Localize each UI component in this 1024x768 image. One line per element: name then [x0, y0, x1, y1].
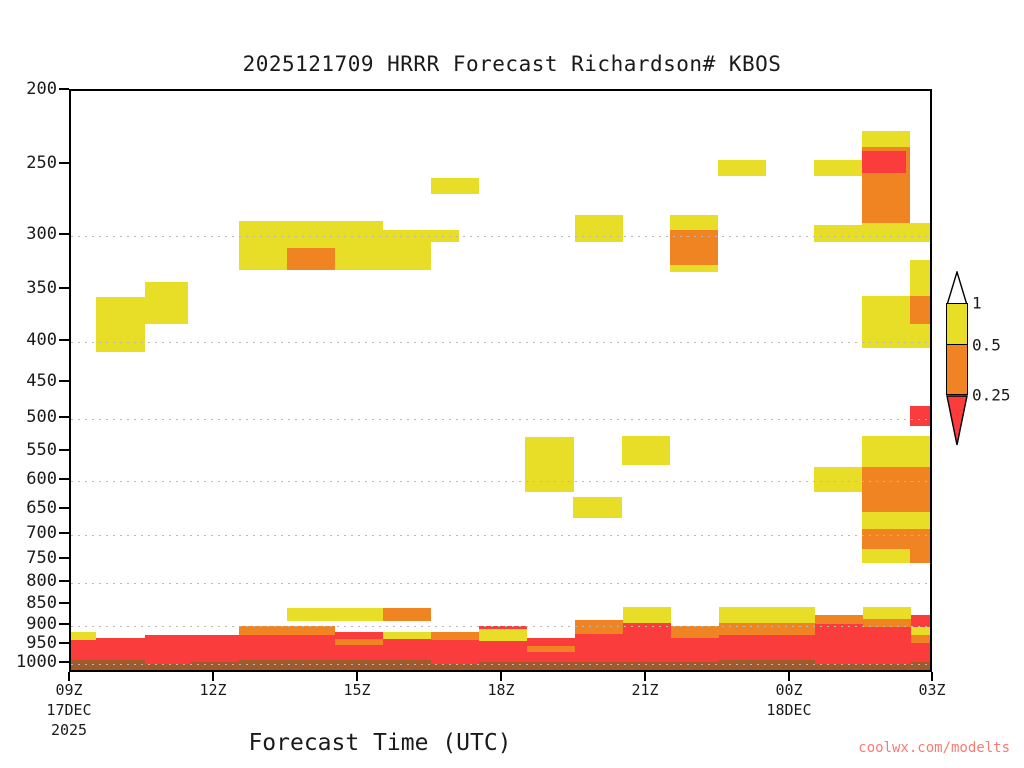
heatmap-cell [814, 467, 862, 492]
y-axis-tick-label: 600 [26, 469, 57, 489]
y-axis-tick [59, 380, 69, 382]
y-axis-tick [59, 532, 69, 534]
y-axis-tick [59, 449, 69, 451]
heatmap-cell [71, 632, 96, 640]
x-axis-tick-label: 18Z [487, 681, 514, 699]
plot-area [69, 89, 932, 672]
y-axis-tick [59, 233, 69, 235]
heatmap-cell [96, 297, 145, 352]
y-axis-tick-label: 250 [26, 153, 57, 173]
heatmap-cell [239, 626, 287, 635]
heatmap-cell [719, 607, 767, 623]
x-axis-tick-label: 21Z [631, 681, 658, 699]
heatmap-cell [814, 225, 862, 242]
y-axis-tick-label: 750 [26, 548, 57, 568]
heatmap-cell [479, 629, 527, 641]
heatmap-cell [862, 467, 932, 512]
x-axis-tick-label: 12Z [199, 681, 226, 699]
heatmap-cell [573, 497, 622, 518]
x-axis-tick [788, 672, 790, 681]
heatmap-cell [479, 662, 719, 672]
y-axis-tick-label: 950 [26, 633, 57, 653]
colorbar-over-arrow-outline [946, 271, 968, 307]
x-axis-tick [356, 672, 358, 681]
heatmap-cell [862, 529, 910, 549]
y-axis-tick [59, 416, 69, 418]
heatmap-cell [287, 626, 335, 635]
heatmap-cell [623, 607, 671, 623]
heatmap-cell [431, 230, 459, 242]
colorbar-under-arrow [946, 395, 968, 447]
heatmap-cell [145, 282, 188, 324]
heatmap-cell [863, 619, 911, 627]
x-axis-title: Forecast Time (UTC) [0, 730, 760, 756]
heatmap-cell [910, 529, 932, 563]
x-axis-tick [212, 672, 214, 681]
x-axis-tick-label: 00Z18DEC [766, 681, 811, 719]
x-axis-tick-label: 15Z [343, 681, 370, 699]
heatmap-cell [145, 664, 191, 672]
heatmap-cells [71, 91, 930, 670]
y-axis-tick-label: 900 [26, 614, 57, 634]
heatmap-cell [911, 662, 932, 672]
heatmap-cell [525, 437, 574, 492]
x-axis-tick [644, 672, 646, 681]
y-axis-tick-label: 850 [26, 593, 57, 613]
colorbar-segment-yellow [946, 303, 968, 345]
heatmap-cell [862, 223, 932, 242]
heatmap-cell [287, 608, 383, 621]
heatmap-cell [910, 260, 932, 296]
heatmap-cell [671, 626, 719, 638]
y-axis-tick [59, 623, 69, 625]
heatmap-cell [622, 436, 670, 465]
colorbar-tick-label: 0.5 [972, 336, 1001, 355]
heatmap-cell [335, 230, 431, 242]
colorbar-tick-label: 0.25 [972, 386, 1011, 405]
heatmap-cell [815, 615, 863, 624]
page-title: 2025121709 HRRR Forecast Richardson# KBO… [0, 52, 1024, 76]
heatmap-cell [335, 221, 383, 270]
heatmap-cell [71, 660, 145, 672]
x-axis-tick [931, 672, 933, 681]
heatmap-cell [431, 664, 479, 672]
y-axis-tick [59, 287, 69, 289]
heatmap-cell [191, 662, 239, 672]
y-axis-tick [59, 642, 69, 644]
heatmap-cell [431, 178, 479, 194]
y-axis-tick [59, 88, 69, 90]
x-axis-tick-label: 03Z [918, 681, 945, 699]
y-axis-tick [59, 162, 69, 164]
y-axis-tick-label: 1000 [16, 652, 57, 672]
heatmap-cell [718, 160, 766, 176]
y-axis-tick [59, 507, 69, 509]
colorbar-legend: 10.50.25 [946, 303, 968, 483]
y-axis-tick-label: 400 [26, 330, 57, 350]
y-axis-tick-label: 550 [26, 440, 57, 460]
y-axis: 2002503003504004505005506006507007508008… [0, 89, 69, 672]
y-axis-tick-label: 800 [26, 571, 57, 591]
y-axis-tick [59, 478, 69, 480]
heatmap-cell [862, 324, 910, 348]
heatmap-cell [910, 406, 932, 426]
chart-canvas: 2025121709 HRRR Forecast Richardson# KBO… [0, 0, 1024, 768]
heatmap-cell [335, 639, 383, 645]
x-axis-tick [500, 672, 502, 681]
heatmap-cell [862, 151, 906, 173]
y-axis-tick-label: 450 [26, 371, 57, 391]
y-axis-tick-label: 300 [26, 224, 57, 244]
y-axis-tick [59, 602, 69, 604]
heatmap-cell [383, 608, 431, 621]
footer-credit: coolwx.com/modelts [858, 740, 1010, 756]
heatmap-cell [814, 160, 862, 176]
colorbar-tick-label: 1 [972, 294, 982, 313]
y-axis-tick [59, 339, 69, 341]
heatmap-cell [863, 607, 911, 619]
heatmap-cell [767, 623, 815, 635]
x-axis-tick [68, 672, 70, 681]
heatmap-cell [862, 549, 910, 563]
colorbar-segment-orange [946, 345, 968, 395]
y-axis-tick [59, 661, 69, 663]
heatmap-cell [431, 632, 479, 640]
heatmap-cell [239, 660, 431, 672]
heatmap-cell [815, 664, 911, 672]
heatmap-cell [719, 623, 767, 635]
heatmap-cell [767, 607, 815, 623]
y-axis-tick [59, 557, 69, 559]
y-axis-tick [59, 580, 69, 582]
heatmap-cell [527, 646, 575, 652]
heatmap-cell [670, 230, 718, 265]
y-axis-tick-label: 350 [26, 278, 57, 298]
heatmap-cell [575, 620, 623, 634]
heatmap-cell [575, 215, 623, 242]
y-axis-tick-label: 700 [26, 523, 57, 543]
heatmap-cell [719, 660, 815, 672]
heatmap-cell [911, 635, 932, 643]
heatmap-cell [287, 248, 335, 270]
y-axis-tick-label: 500 [26, 407, 57, 427]
y-axis-tick-label: 650 [26, 498, 57, 518]
heatmap-cell [910, 296, 932, 324]
y-axis-tick-label: 200 [26, 79, 57, 99]
